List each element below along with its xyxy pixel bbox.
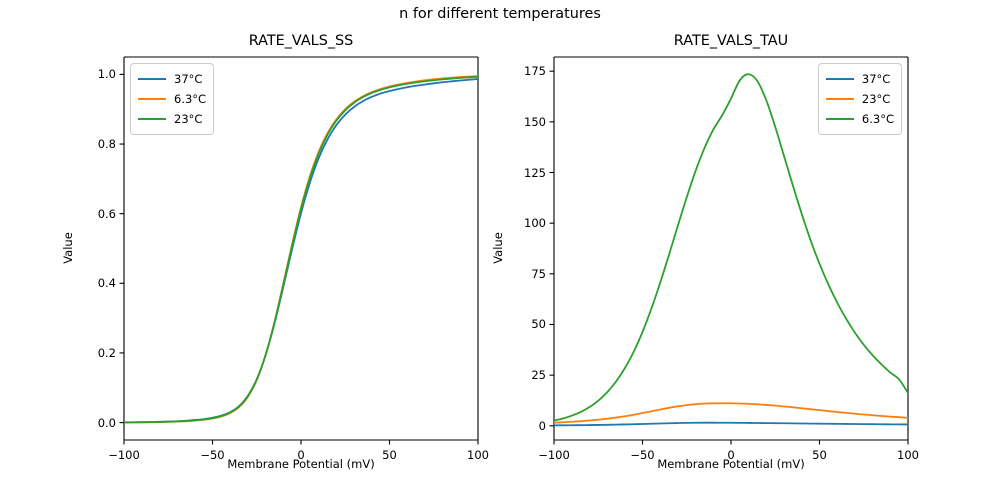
- legend-item[interactable]: 23°C: [826, 89, 894, 109]
- y-tick-label: 50: [492, 317, 546, 331]
- legend-item[interactable]: 37°C: [138, 69, 206, 89]
- legend-color-swatch: [138, 118, 166, 120]
- x-tick-label: 100: [897, 448, 919, 462]
- series-line: [554, 403, 908, 422]
- subplot-title-left: RATE_VALS_SS: [124, 33, 478, 49]
- y-tick-label: 0.8: [62, 137, 116, 151]
- figure-suptitle: n for different temperatures: [0, 6, 1000, 22]
- y-tick-label: 1.0: [62, 67, 116, 81]
- series-line: [554, 423, 908, 426]
- subplot-rate-vals-tau: RATE_VALS_TAU 37°C23°C6.3°C Membrane Pot…: [554, 57, 908, 440]
- legend-item[interactable]: 23°C: [138, 109, 206, 129]
- x-tick-label: 50: [812, 448, 827, 462]
- legend-item[interactable]: 6.3°C: [138, 89, 206, 109]
- x-tick-label: −100: [108, 448, 140, 462]
- legend-label: 37°C: [174, 72, 202, 86]
- legend-label: 37°C: [862, 72, 890, 86]
- x-tick-label: −100: [538, 448, 570, 462]
- legend-color-swatch: [826, 98, 854, 100]
- y-tick-label: 175: [492, 64, 546, 78]
- legend-item[interactable]: 6.3°C: [826, 109, 894, 129]
- y-tick-label: 0.4: [62, 276, 116, 290]
- y-tick-label: 0: [492, 419, 546, 433]
- legend-color-swatch: [826, 78, 854, 80]
- y-tick-label: 75: [492, 267, 546, 281]
- x-tick-label: −50: [630, 448, 654, 462]
- y-tick-label: 125: [492, 166, 546, 180]
- y-tick-label: 0.0: [62, 416, 116, 430]
- legend-label: 23°C: [862, 92, 890, 106]
- legend-label: 6.3°C: [862, 112, 894, 126]
- subplot-title-right: RATE_VALS_TAU: [554, 33, 908, 49]
- legend-label: 23°C: [174, 112, 202, 126]
- legend-label: 6.3°C: [174, 92, 206, 106]
- x-tick-label: 50: [382, 448, 397, 462]
- legend-color-swatch: [826, 118, 854, 120]
- ylabel-left: Value: [61, 218, 75, 278]
- y-tick-label: 25: [492, 368, 546, 382]
- x-tick-label: 100: [467, 448, 489, 462]
- x-tick-label: 0: [727, 448, 734, 462]
- legend-right[interactable]: 37°C23°C6.3°C: [818, 63, 902, 135]
- y-tick-label: 150: [492, 115, 546, 129]
- y-tick-label: 0.6: [62, 207, 116, 221]
- legend-color-swatch: [138, 98, 166, 100]
- y-tick-label: 0.2: [62, 346, 116, 360]
- figure-canvas: n for different temperatures RATE_VALS_S…: [0, 0, 1000, 500]
- legend-item[interactable]: 37°C: [826, 69, 894, 89]
- x-tick-label: −50: [200, 448, 224, 462]
- x-tick-label: 0: [297, 448, 304, 462]
- y-tick-label: 100: [492, 216, 546, 230]
- subplot-rate-vals-ss: RATE_VALS_SS 37°C6.3°C23°C Membrane Pote…: [124, 57, 478, 440]
- legend-left[interactable]: 37°C6.3°C23°C: [130, 63, 214, 135]
- legend-color-swatch: [138, 78, 166, 80]
